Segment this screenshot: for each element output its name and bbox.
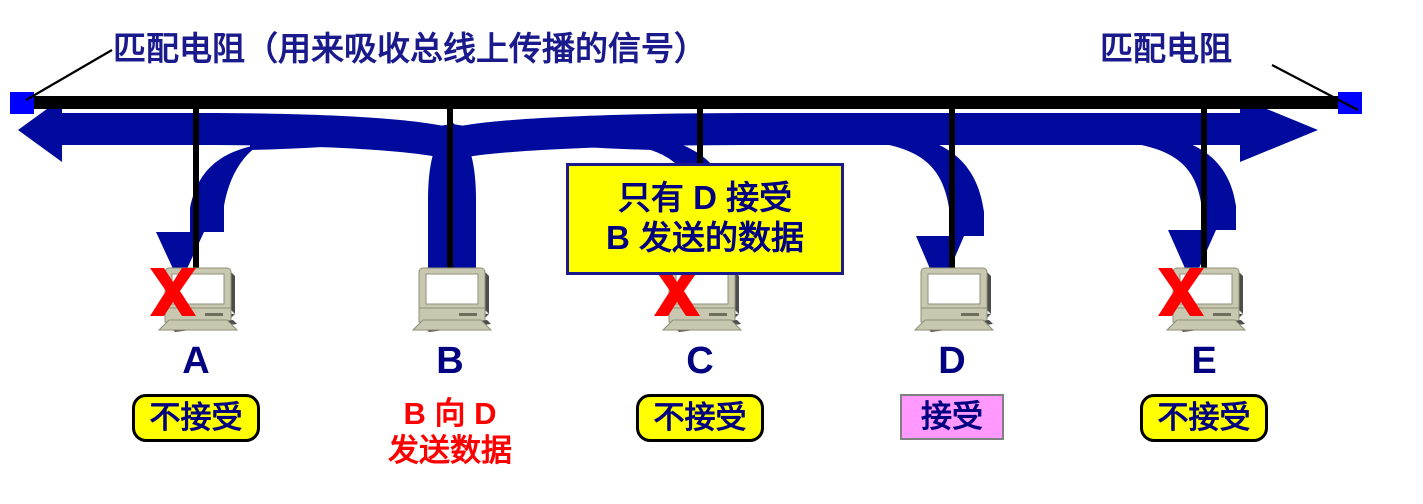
- leader-line-layer: [0, 0, 1423, 140]
- bus-network-diagram: 匹配电阻（用来吸收总线上传播的信号） 匹配电阻: [0, 0, 1423, 504]
- leader-line-right: [1272, 65, 1358, 110]
- computer-icon-d: [911, 258, 997, 338]
- station-label-c: C: [665, 340, 735, 383]
- callout-box-only-d-accepts: 只有 D 接受 B 发送的数据: [566, 163, 844, 275]
- station-label-d: D: [917, 340, 987, 383]
- callout-line-2: B 发送的数据: [606, 218, 804, 258]
- sender-note-b: B 向 D 发送数据: [340, 396, 560, 469]
- terminator-left-label: 匹配电阻（用来吸收总线上传播的信号）: [113, 22, 707, 70]
- x-mark-a: [142, 264, 204, 322]
- status-badge-d: 接受: [900, 394, 1004, 440]
- status-badge-a: 不接受: [132, 394, 260, 442]
- sender-note-line-1: B 向 D: [340, 396, 560, 433]
- callout-line-1: 只有 D 接受: [618, 178, 792, 218]
- status-badge-c: 不接受: [636, 394, 764, 442]
- x-mark-e: [1150, 264, 1212, 322]
- terminator-right-label: 匹配电阻: [1100, 22, 1232, 70]
- sender-note-line-2: 发送数据: [340, 433, 560, 470]
- computer-icon-b: [409, 258, 495, 338]
- status-badge-e: 不接受: [1140, 394, 1268, 442]
- leader-line-left: [26, 50, 112, 100]
- station-label-b: B: [415, 340, 485, 383]
- station-label-a: A: [161, 340, 231, 383]
- station-label-e: E: [1169, 340, 1239, 383]
